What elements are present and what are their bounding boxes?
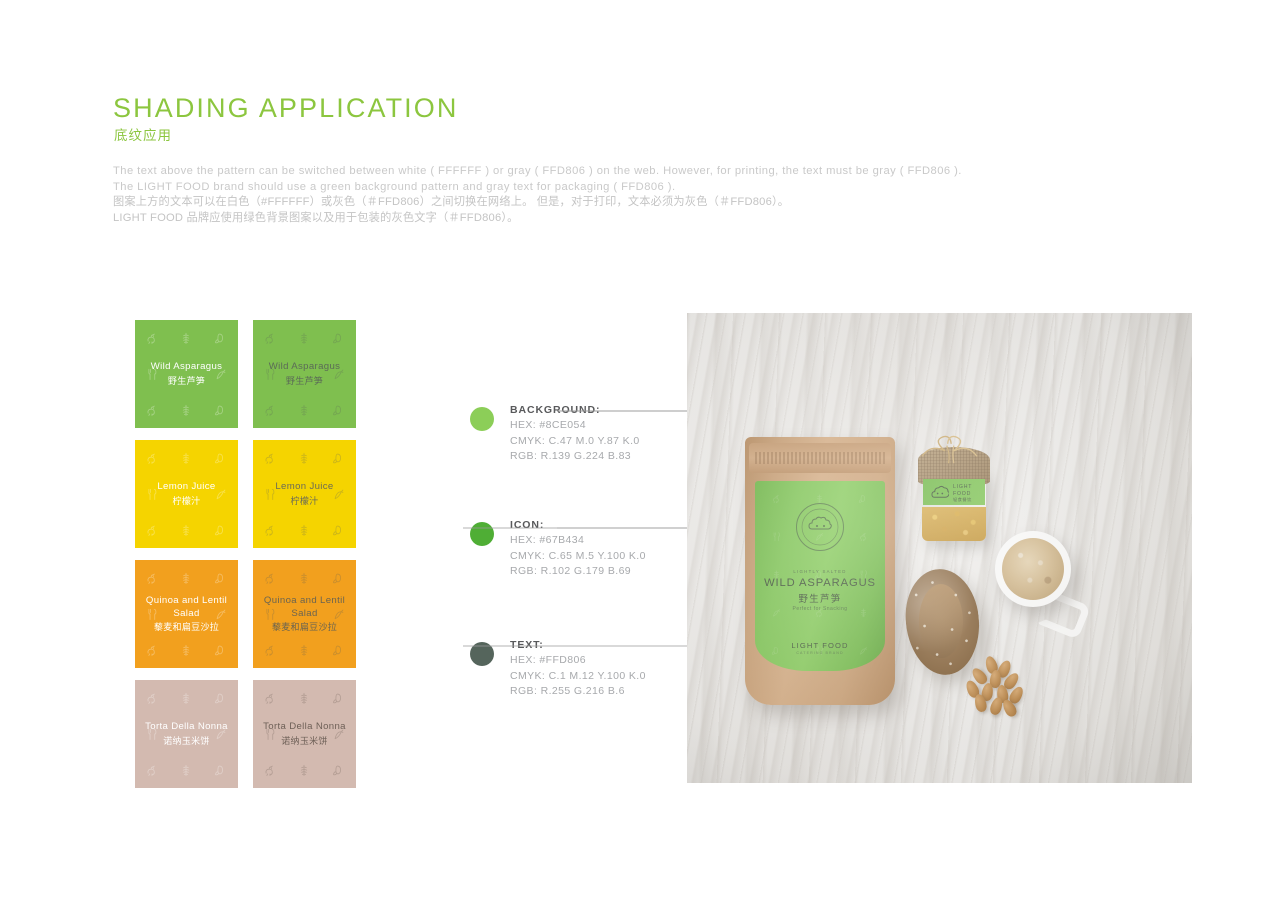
swatch-name-en: Quinoa and Lentil Salad bbox=[135, 595, 238, 620]
chicken-icon bbox=[263, 763, 277, 777]
swatch-name-cn: 诺纳玉米饼 bbox=[253, 735, 356, 748]
asparagus-icon bbox=[179, 451, 193, 465]
swatch-card[interactable]: Torta Della Nonna诺纳玉米饼 bbox=[253, 680, 356, 788]
chicken-icon bbox=[145, 451, 159, 465]
swatch-card[interactable]: Quinoa and Lentil Salad藜麦和扁豆沙拉 bbox=[253, 560, 356, 668]
corn-icon bbox=[214, 643, 228, 657]
asparagus-icon bbox=[297, 571, 311, 585]
corn-icon bbox=[332, 571, 346, 585]
corn-icon bbox=[332, 763, 346, 777]
background-spec-label: BACKGROUND: bbox=[510, 403, 640, 418]
swatch-label: Lemon Juice柠檬汁 bbox=[135, 481, 238, 507]
swatch-label: Quinoa and Lentil Salad藜麦和扁豆沙拉 bbox=[135, 595, 238, 634]
asparagus-icon bbox=[297, 451, 311, 465]
chicken-icon bbox=[145, 763, 159, 777]
swatch-name-en: Torta Della Nonna bbox=[135, 721, 238, 734]
corn-icon bbox=[214, 523, 228, 537]
asparagus-icon bbox=[179, 643, 193, 657]
chicken-icon bbox=[145, 331, 159, 345]
chicken-icon bbox=[145, 451, 159, 465]
chicken-icon bbox=[263, 691, 277, 705]
chicken-icon bbox=[263, 331, 277, 345]
asparagus-icon bbox=[179, 403, 193, 417]
page-title: SHADING APPLICATION bbox=[113, 93, 458, 124]
corn-icon bbox=[332, 643, 346, 657]
text-hex-value: HEX: #FFD806 bbox=[510, 653, 646, 669]
corn-icon bbox=[214, 523, 228, 537]
asparagus-icon bbox=[179, 691, 193, 705]
asparagus-icon bbox=[297, 331, 311, 345]
swatch-name-en: Quinoa and Lentil Salad bbox=[253, 595, 356, 620]
corn-icon bbox=[332, 403, 346, 417]
asparagus-icon bbox=[297, 643, 311, 657]
background-hex-value: HEX: #8CE054 bbox=[510, 418, 640, 434]
asparagus-icon bbox=[179, 571, 193, 585]
swatch-label: Wild Asparagus野生芦笋 bbox=[253, 361, 356, 387]
asparagus-icon bbox=[179, 643, 193, 657]
chicken-icon bbox=[263, 403, 277, 417]
chicken-icon bbox=[263, 523, 277, 537]
corn-icon bbox=[332, 691, 346, 705]
background-rgb-value: RGB: R.139 G.224 B.83 bbox=[510, 449, 640, 465]
chicken-icon bbox=[145, 523, 159, 537]
swatch-card[interactable]: Quinoa and Lentil Salad藜麦和扁豆沙拉 bbox=[135, 560, 238, 668]
asparagus-icon bbox=[179, 763, 193, 777]
asparagus-icon bbox=[179, 763, 193, 777]
swatch-name-cn: 野生芦笋 bbox=[253, 375, 356, 388]
swatch-name-en: Lemon Juice bbox=[135, 481, 238, 494]
asparagus-icon bbox=[179, 331, 193, 345]
page-subtitle: 底纹应用 bbox=[114, 124, 172, 144]
swatch-card[interactable]: Torta Della Nonna诺纳玉米饼 bbox=[135, 680, 238, 788]
description-line-en-1: The text above the pattern can be switch… bbox=[113, 164, 1113, 180]
chicken-icon bbox=[263, 403, 277, 417]
asparagus-icon bbox=[179, 691, 193, 705]
corn-icon bbox=[332, 763, 346, 777]
chicken-icon bbox=[145, 691, 159, 705]
icon-spec-label: ICON: bbox=[510, 518, 646, 533]
chicken-icon bbox=[145, 403, 159, 417]
background-color-dot bbox=[470, 407, 494, 431]
swatch-card[interactable]: Wild Asparagus野生芦笋 bbox=[135, 320, 238, 428]
swatch-card[interactable]: Lemon Juice柠檬汁 bbox=[253, 440, 356, 548]
swatch-name-cn: 柠檬汁 bbox=[135, 495, 238, 508]
chicken-icon bbox=[263, 571, 277, 585]
chicken-icon bbox=[263, 451, 277, 465]
chicken-icon bbox=[145, 571, 159, 585]
asparagus-icon bbox=[297, 571, 311, 585]
chicken-icon bbox=[263, 331, 277, 345]
chicken-icon bbox=[263, 643, 277, 657]
chicken-icon bbox=[145, 763, 159, 777]
text-spec-label: TEXT: bbox=[510, 638, 646, 653]
swatch-label: Quinoa and Lentil Salad藜麦和扁豆沙拉 bbox=[253, 595, 356, 634]
corn-icon bbox=[332, 523, 346, 537]
corn-icon bbox=[332, 403, 346, 417]
corn-icon bbox=[332, 331, 346, 345]
swatch-label: Torta Della Nonna诺纳玉米饼 bbox=[135, 721, 238, 747]
swatch-label: Wild Asparagus野生芦笋 bbox=[135, 361, 238, 387]
corn-icon bbox=[214, 643, 228, 657]
corn-icon bbox=[332, 523, 346, 537]
asparagus-icon bbox=[297, 643, 311, 657]
corn-icon bbox=[214, 571, 228, 585]
chicken-icon bbox=[145, 643, 159, 657]
swatch-name-cn: 柠檬汁 bbox=[253, 495, 356, 508]
swatch-name-cn: 藜麦和扁豆沙拉 bbox=[253, 621, 356, 634]
asparagus-icon bbox=[179, 571, 193, 585]
text-rgb-value: RGB: R.255 G.216 B.6 bbox=[510, 684, 646, 700]
text-cmyk-value: CMYK: C.1 M.12 Y.100 K.0 bbox=[510, 669, 646, 685]
asparagus-icon bbox=[179, 451, 193, 465]
corn-icon bbox=[332, 643, 346, 657]
corn-icon bbox=[214, 691, 228, 705]
asparagus-icon bbox=[179, 523, 193, 537]
corn-icon bbox=[214, 331, 228, 345]
chicken-icon bbox=[145, 523, 159, 537]
asparagus-icon bbox=[179, 403, 193, 417]
corn-icon bbox=[214, 763, 228, 777]
asparagus-icon bbox=[297, 403, 311, 417]
swatch-card[interactable]: Lemon Juice柠檬汁 bbox=[135, 440, 238, 548]
corn-icon bbox=[214, 451, 228, 465]
swatch-name-en: Wild Asparagus bbox=[135, 361, 238, 374]
swatch-name-cn: 野生芦笋 bbox=[135, 375, 238, 388]
swatch-name-en: Torta Della Nonna bbox=[253, 721, 356, 734]
asparagus-icon bbox=[297, 451, 311, 465]
corn-icon bbox=[332, 451, 346, 465]
text-color-dot bbox=[470, 642, 494, 666]
corn-icon bbox=[214, 571, 228, 585]
corn-icon bbox=[214, 331, 228, 345]
chicken-icon bbox=[263, 523, 277, 537]
chicken-icon bbox=[263, 691, 277, 705]
corn-icon bbox=[332, 331, 346, 345]
asparagus-icon bbox=[297, 523, 311, 537]
chicken-icon bbox=[263, 451, 277, 465]
chicken-icon bbox=[145, 403, 159, 417]
icon-hex-value: HEX: #67B434 bbox=[510, 533, 646, 549]
asparagus-icon bbox=[297, 763, 311, 777]
asparagus-icon bbox=[297, 523, 311, 537]
description-line-cn-1: 图案上方的文本可以在白色（#FFFFFF）或灰色（＃FFD806）之间切换在网络… bbox=[113, 195, 1113, 211]
description-block: The text above the pattern can be switch… bbox=[113, 164, 1113, 226]
icon-rgb-value: RGB: R.102 G.179 B.69 bbox=[510, 564, 646, 580]
photo-vignette bbox=[687, 313, 1192, 783]
corn-icon bbox=[332, 691, 346, 705]
corn-icon bbox=[214, 403, 228, 417]
asparagus-icon bbox=[297, 763, 311, 777]
swatch-grid: Wild Asparagus野生芦笋Wild Asparagus野生芦笋Lemo… bbox=[135, 320, 356, 788]
asparagus-icon bbox=[297, 331, 311, 345]
asparagus-icon bbox=[297, 691, 311, 705]
chicken-icon bbox=[145, 571, 159, 585]
chicken-icon bbox=[263, 763, 277, 777]
chicken-icon bbox=[263, 643, 277, 657]
corn-icon bbox=[214, 403, 228, 417]
chicken-icon bbox=[263, 571, 277, 585]
product-photograph: LIGHTLY SALTED WILD ASPARAGUS 野生芦笋 Perfe… bbox=[687, 313, 1192, 783]
icon-color-dot bbox=[470, 522, 494, 546]
corn-icon bbox=[214, 763, 228, 777]
description-line-cn-2: LIGHT FOOD 品牌应使用绿色背景图案以及用于包装的灰色文字（＃FFD80… bbox=[113, 211, 1113, 227]
chicken-icon bbox=[145, 331, 159, 345]
description-line-en-2: The LIGHT FOOD brand should use a green … bbox=[113, 180, 1113, 196]
icon-cmyk-value: CMYK: C.65 M.5 Y.100 K.0 bbox=[510, 549, 646, 565]
asparagus-icon bbox=[179, 331, 193, 345]
swatch-name-cn: 藜麦和扁豆沙拉 bbox=[135, 621, 238, 634]
swatch-card[interactable]: Wild Asparagus野生芦笋 bbox=[253, 320, 356, 428]
corn-icon bbox=[332, 451, 346, 465]
corn-icon bbox=[332, 571, 346, 585]
swatch-name-en: Lemon Juice bbox=[253, 481, 356, 494]
chicken-icon bbox=[145, 643, 159, 657]
swatch-name-cn: 诺纳玉米饼 bbox=[135, 735, 238, 748]
asparagus-icon bbox=[179, 523, 193, 537]
corn-icon bbox=[214, 691, 228, 705]
chicken-icon bbox=[145, 691, 159, 705]
asparagus-icon bbox=[297, 403, 311, 417]
swatch-name-en: Wild Asparagus bbox=[253, 361, 356, 374]
background-cmyk-value: CMYK: C.47 M.0 Y.87 K.0 bbox=[510, 434, 640, 450]
swatch-label: Lemon Juice柠檬汁 bbox=[253, 481, 356, 507]
asparagus-icon bbox=[297, 691, 311, 705]
corn-icon bbox=[214, 451, 228, 465]
swatch-label: Torta Della Nonna诺纳玉米饼 bbox=[253, 721, 356, 747]
